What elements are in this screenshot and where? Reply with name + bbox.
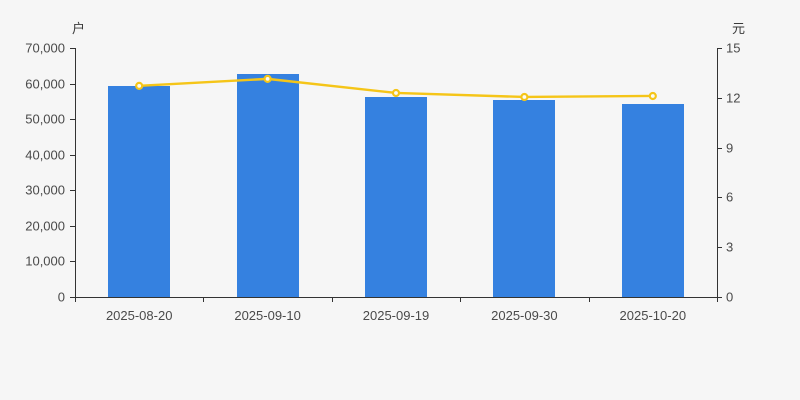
right-tick-mark [717, 197, 722, 198]
left-tick-label: 10,000 [0, 255, 65, 268]
right-tick-label: 9 [726, 141, 733, 154]
left-tick-label: 50,000 [0, 113, 65, 126]
right-tick-mark [717, 148, 722, 149]
line-marker[interactable] [393, 90, 399, 96]
left-tick-mark [70, 226, 75, 227]
right-tick-mark [717, 48, 722, 49]
left-tick-label: 60,000 [0, 77, 65, 90]
left-tick-mark [70, 190, 75, 191]
right-tick-mark [717, 98, 722, 99]
x-tick-mark [460, 297, 461, 302]
left-tick-mark [70, 48, 75, 49]
right-tick-label: 12 [726, 91, 740, 104]
left-tick-label: 20,000 [0, 219, 65, 232]
x-tick-label: 2025-09-19 [363, 308, 430, 323]
left-tick-label: 70,000 [0, 42, 65, 55]
chart-container: 户 元 010,00020,00030,00040,00050,00060,00… [0, 0, 800, 400]
x-tick-label: 2025-10-20 [620, 308, 687, 323]
bar[interactable] [108, 86, 170, 297]
x-tick-mark [203, 297, 204, 302]
x-tick-mark [589, 297, 590, 302]
left-axis-line [75, 48, 76, 297]
right-tick-mark [717, 247, 722, 248]
left-tick-mark [70, 84, 75, 85]
line-marker[interactable] [650, 93, 656, 99]
right-tick-label: 15 [726, 42, 740, 55]
left-tick-mark [70, 155, 75, 156]
bar[interactable] [622, 104, 684, 297]
x-tick-mark [75, 297, 76, 302]
x-tick-mark [717, 297, 718, 302]
left-tick-mark [70, 261, 75, 262]
bar[interactable] [237, 74, 299, 297]
line-path [139, 79, 653, 97]
left-tick-label: 0 [0, 291, 65, 304]
left-tick-label: 40,000 [0, 148, 65, 161]
x-tick-mark [332, 297, 333, 302]
x-tick-label: 2025-08-20 [106, 308, 173, 323]
x-axis-baseline [75, 297, 717, 298]
bar[interactable] [365, 97, 427, 297]
left-tick-mark [70, 119, 75, 120]
bar[interactable] [493, 100, 555, 297]
right-tick-label: 0 [726, 291, 733, 304]
right-axis-unit-label: 元 [732, 18, 745, 37]
x-tick-label: 2025-09-10 [234, 308, 301, 323]
left-axis-unit-label: 户 [72, 18, 85, 37]
right-axis-line [717, 48, 718, 297]
x-tick-label: 2025-09-30 [491, 308, 558, 323]
right-tick-label: 6 [726, 191, 733, 204]
right-tick-label: 3 [726, 241, 733, 254]
left-tick-label: 30,000 [0, 184, 65, 197]
